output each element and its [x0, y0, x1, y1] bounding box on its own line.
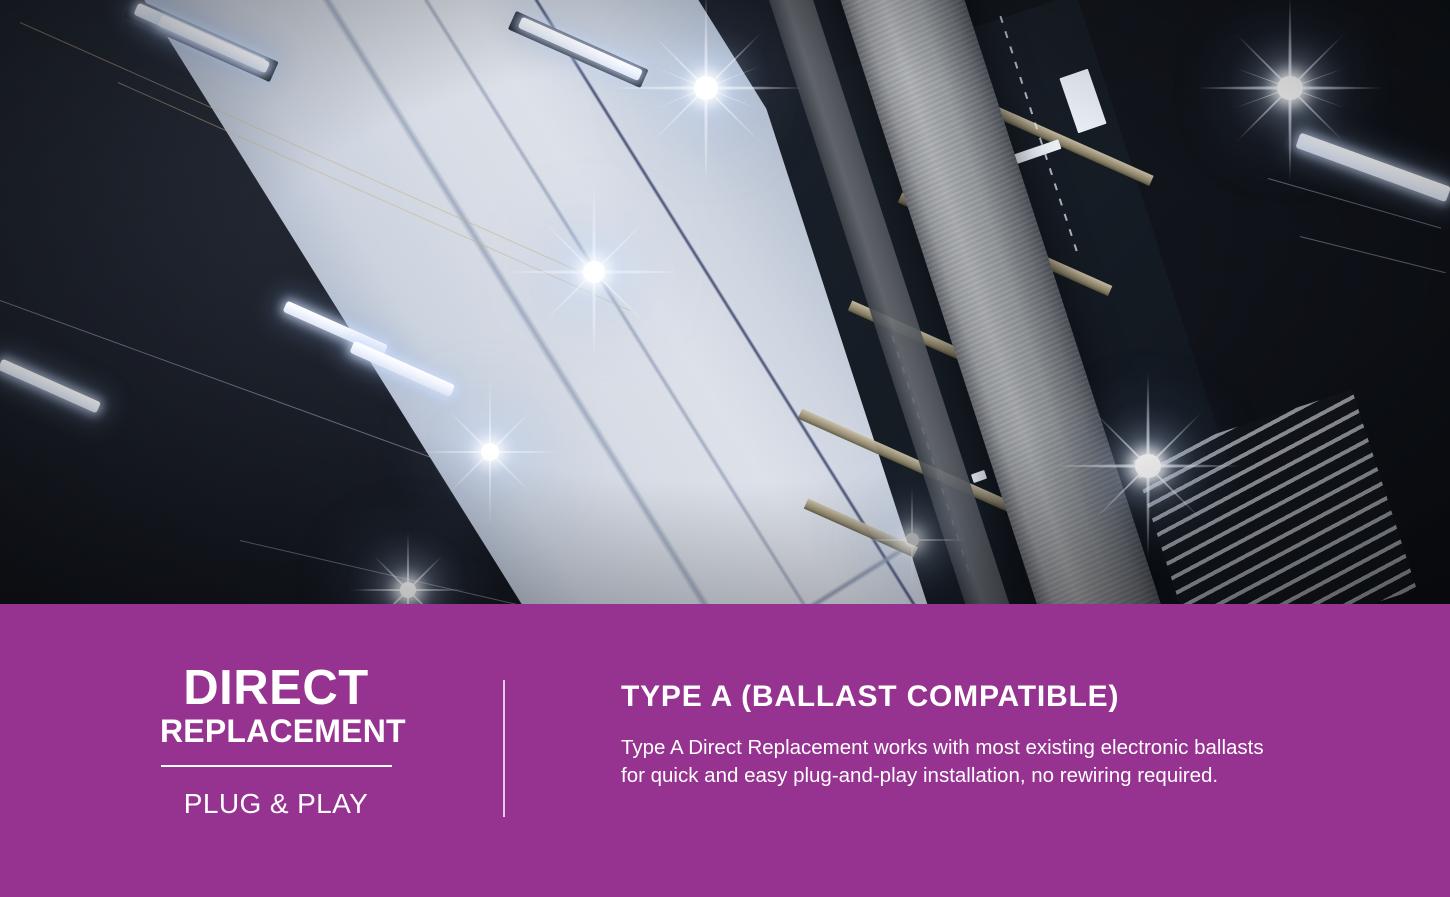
light-bulb [905, 533, 919, 547]
horizontal-divider [161, 765, 392, 767]
light-bulb [481, 443, 499, 461]
feature-title-block: DIRECT REPLACEMENT PLUG & PLAY [160, 666, 392, 820]
feature-tagline: PLUG & PLAY [160, 788, 392, 820]
feature-title-main: DIRECT [160, 666, 392, 711]
callout-band: DIRECT REPLACEMENT PLUG & PLAY TYPE A (B… [0, 604, 1450, 897]
feature-heading: TYPE A (BALLAST COMPATIBLE) [621, 680, 1311, 713]
slide-root: DIRECT REPLACEMENT PLUG & PLAY TYPE A (B… [0, 0, 1450, 897]
feature-body-text: Type A Direct Replacement works with mos… [621, 734, 1293, 790]
feature-title-sub: REPLACEMENT [160, 715, 392, 747]
vertical-divider [503, 680, 505, 817]
light-bulb [1135, 454, 1161, 478]
light-bulb [1277, 76, 1303, 100]
light-bulb [400, 582, 416, 598]
light-bulb [583, 261, 605, 283]
feature-copy-block: TYPE A (BALLAST COMPATIBLE) Type A Direc… [621, 680, 1311, 790]
callout-band-inner: DIRECT REPLACEMENT PLUG & PLAY TYPE A (B… [0, 604, 1450, 897]
light-bulb [694, 76, 718, 100]
hero-photo [0, 0, 1450, 604]
